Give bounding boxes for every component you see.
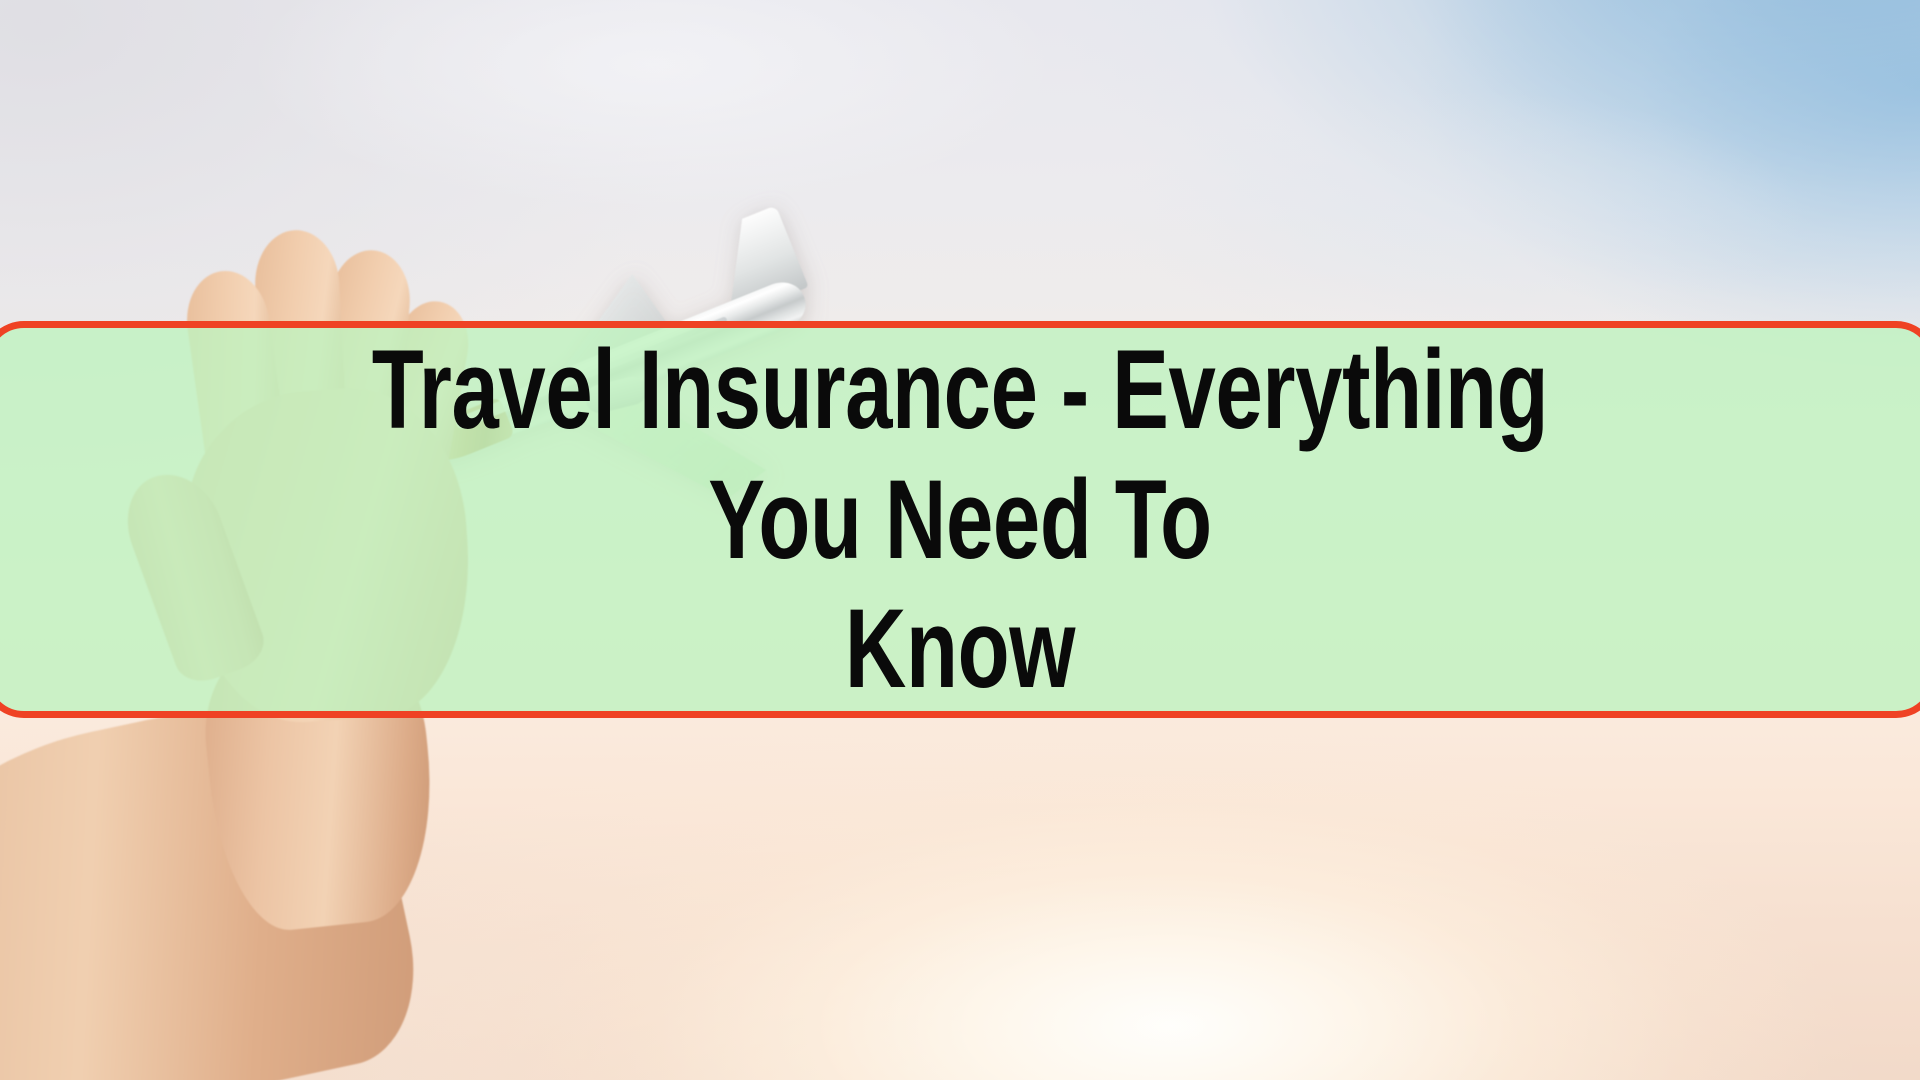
title-banner: Travel Insurance - Everything You Need T… bbox=[0, 321, 1920, 718]
banner-graphic: Travel Insurance - Everything You Need T… bbox=[0, 0, 1920, 1080]
page-title: Travel Insurance - Everything You Need T… bbox=[291, 325, 1629, 715]
